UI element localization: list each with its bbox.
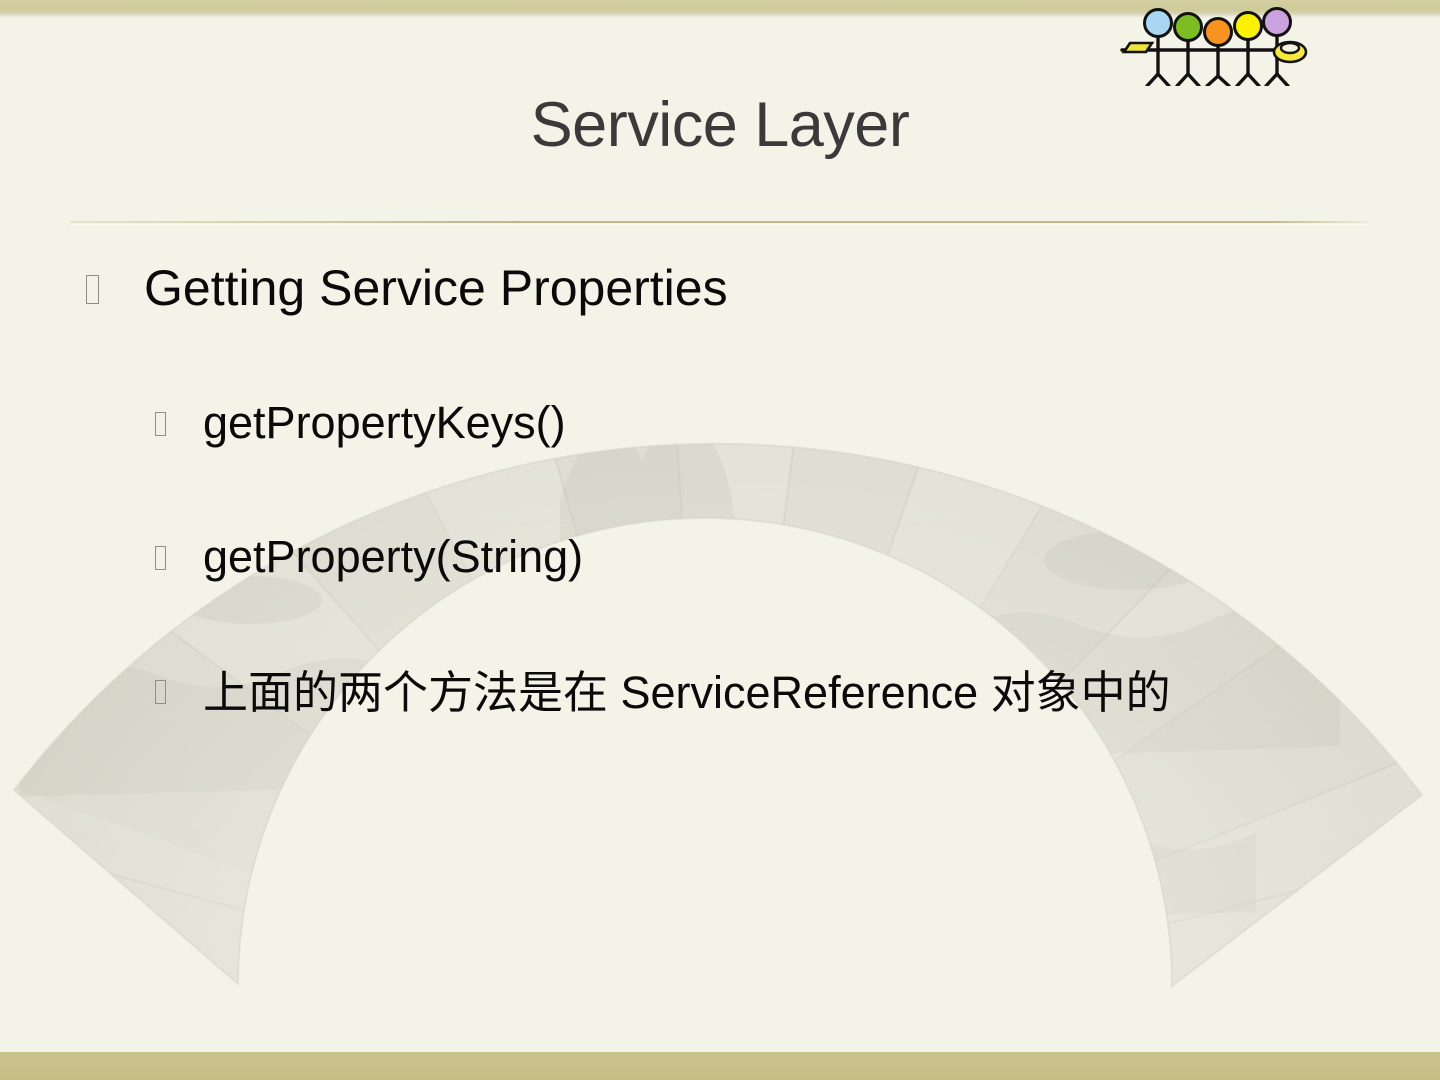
list-item[interactable]: getPropertyKeys() <box>0 392 1440 454</box>
title-divider-highlight <box>70 224 1368 225</box>
stick-figure-2 <box>1177 38 1199 86</box>
list-item-label: getProperty(String) <box>203 526 583 588</box>
balloon-head-green <box>1175 14 1202 41</box>
list-item[interactable]: getProperty(String) <box>0 526 1440 588</box>
logo-parallelogram-accent <box>1124 43 1152 52</box>
bottom-accent-bar <box>0 1052 1440 1080</box>
five-stick-figures-with-balloons-logo <box>1118 4 1308 86</box>
list-item-label: getPropertyKeys() <box>203 392 566 454</box>
bullet-marker-icon <box>155 660 203 722</box>
list-item[interactable]: 上面的两个方法是在 ServiceReference 对象中的 <box>0 660 1440 725</box>
bullet-marker-icon <box>155 392 203 454</box>
bullet-marker-icon <box>155 526 203 588</box>
balloon-head-purple <box>1264 9 1291 36</box>
list-item[interactable]: Getting Service Properties <box>0 256 1440 320</box>
balloon-head-blue <box>1145 10 1172 37</box>
list-item-label: 上面的两个方法是在 ServiceReference 对象中的 <box>203 660 1171 725</box>
content-body: Getting Service Properties getPropertyKe… <box>0 256 1440 725</box>
logo-ring-accent <box>1274 42 1306 62</box>
balloon-head-orange <box>1205 19 1232 46</box>
page-title: Service Layer <box>70 92 1370 158</box>
stick-figure-4 <box>1237 37 1259 86</box>
title-divider <box>70 221 1368 223</box>
bullet-marker-icon <box>86 256 144 320</box>
slide-canvas: Service Layer Getting Service Properties… <box>0 0 1440 1080</box>
list-item-label: Getting Service Properties <box>144 256 728 320</box>
balloon-head-yellow <box>1235 13 1262 40</box>
